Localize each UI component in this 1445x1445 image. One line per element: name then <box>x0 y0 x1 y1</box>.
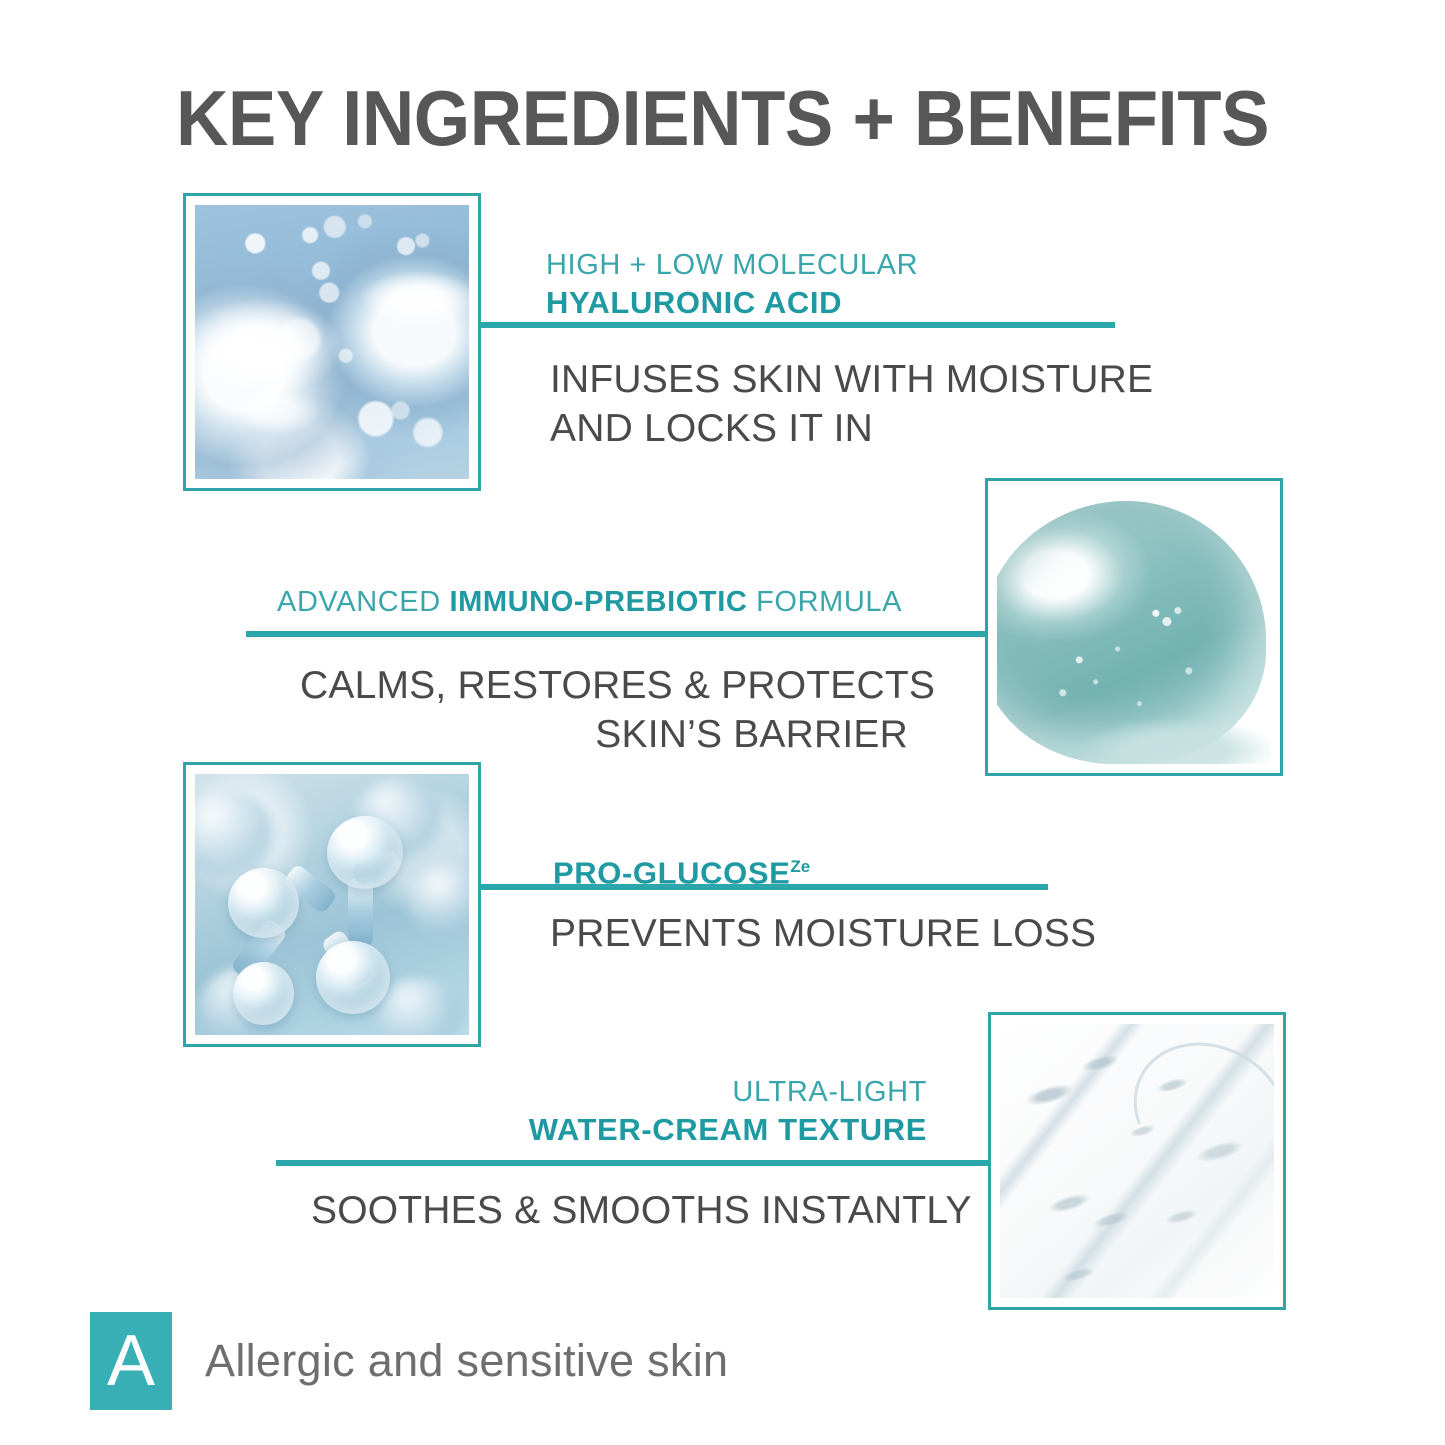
clear-gel-texture-photo <box>1000 1024 1274 1298</box>
molecule-atom-blur <box>376 978 464 1035</box>
ingredient-image-immuno-prebiotic <box>985 478 1283 776</box>
eyebrow-water-cream-texture: ULTRA-LIGHT <box>430 1073 927 1111</box>
page-title: KEY INGREDIENTS + BENEFITS <box>51 72 1395 164</box>
benefit-water-cream-texture: SOOTHES & SMOOTHS INSTANTLY <box>311 1186 972 1235</box>
benefit-hyaluronic-acid: INFUSES SKIN WITH MOISTURE AND LOCKS IT … <box>550 355 1153 453</box>
teal-gel-dome-photo <box>997 490 1271 764</box>
headline-text: PRO-GLUCOSE <box>553 855 790 890</box>
molecule-photo <box>195 774 469 1035</box>
benefit-line: AND LOCKS IT IN <box>550 404 1153 453</box>
badge-letter: A <box>107 1321 155 1401</box>
benefit-line: PREVENTS MOISTURE LOSS <box>550 909 1096 958</box>
water-bubbles-photo <box>195 205 469 479</box>
headline-text: WATER-CREAM TEXTURE <box>529 1112 927 1147</box>
molecule-atom <box>233 962 293 1025</box>
molecule-atom <box>327 816 404 889</box>
headline-text: HYALURONIC ACID <box>546 285 842 320</box>
eyebrow-pre: ADVANCED <box>277 586 449 618</box>
benefit-line: INFUSES SKIN WITH MOISTURE <box>550 355 1153 404</box>
molecule-atom <box>228 868 299 938</box>
headline-hyaluronic-acid: HYALURONIC ACID <box>546 283 842 323</box>
ingredient-image-pro-glucose <box>183 762 481 1047</box>
benefit-pro-glucose: PREVENTS MOISTURE LOSS <box>550 909 1096 958</box>
molecule-atom-blur <box>409 863 469 941</box>
allergy-badge-caption: Allergic and sensitive skin <box>205 1330 728 1392</box>
connector-rule-water-cream-texture <box>276 1160 990 1166</box>
headline-water-cream-texture: WATER-CREAM TEXTURE <box>430 1110 927 1150</box>
eyebrow-bold: IMMUNO-PREBIOTIC <box>449 586 747 618</box>
benefit-line: SKIN’S BARRIER <box>300 710 908 759</box>
ingredient-image-water-cream-texture <box>988 1012 1286 1310</box>
eyebrow-immuno-prebiotic: ADVANCED IMMUNO-PREBIOTIC FORMULA <box>277 583 902 621</box>
eyebrow-post: FORMULA <box>747 586 902 618</box>
connector-rule-immuno-prebiotic <box>246 631 988 637</box>
ingredient-image-hyaluronic-acid <box>183 193 481 491</box>
benefit-line: CALMS, RESTORES & PROTECTS <box>300 661 908 710</box>
headline-pro-glucose: PRO-GLUCOSEZe <box>553 847 810 893</box>
molecule-atom-blur <box>195 790 272 879</box>
infographic-page: KEY INGREDIENTS + BENEFITS HIGH + LOW MO… <box>0 0 1445 1445</box>
headline-superscript: Ze <box>790 857 810 876</box>
allergy-badge: A <box>90 1312 172 1410</box>
benefit-line: SOOTHES & SMOOTHS INSTANTLY <box>311 1186 972 1235</box>
eyebrow-hyaluronic-acid: HIGH + LOW MOLECULAR <box>546 246 918 284</box>
molecule-atom <box>316 941 390 1014</box>
benefit-immuno-prebiotic: CALMS, RESTORES & PROTECTS SKIN’S BARRIE… <box>300 661 908 759</box>
